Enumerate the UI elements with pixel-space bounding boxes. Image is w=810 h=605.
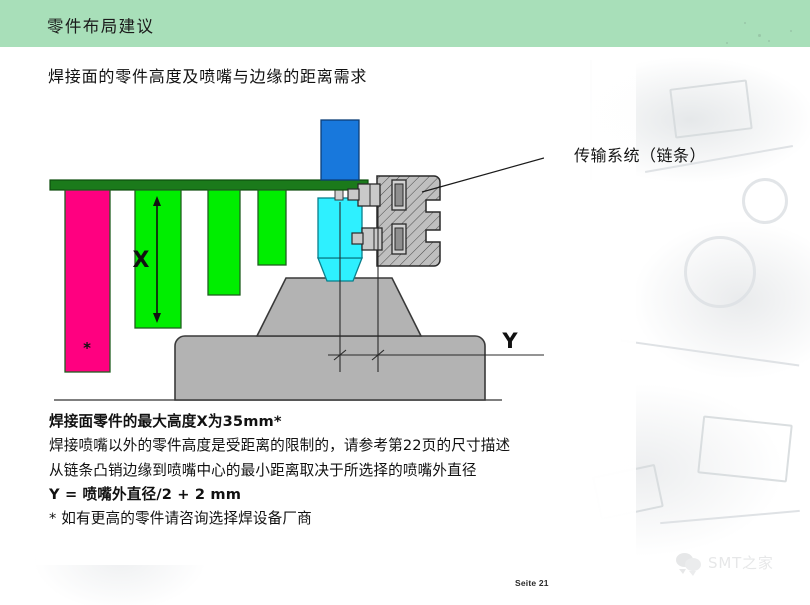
- dimension-x-label: X: [133, 248, 150, 273]
- green-component-2: [208, 190, 240, 295]
- green-component-3: [258, 190, 286, 265]
- blue-topside-component: [321, 120, 359, 180]
- body-line: 从链条凸销边缘到喷嘴中心的最小距离取决于所选择的喷嘴外直径: [49, 463, 510, 480]
- callout-label: 传输系统（链条）: [574, 142, 706, 166]
- machine-base: [175, 336, 485, 400]
- body-line: Y = 喷嘴外直径/2 + 2 mm: [49, 487, 510, 504]
- page-number-footer: Seite 21: [515, 578, 549, 588]
- bg-trace-line: [621, 339, 800, 366]
- bg-ring-shape: [684, 236, 756, 308]
- page-title: 零件布局建议: [47, 13, 154, 37]
- pcb-board: [50, 180, 368, 190]
- bg-chip-shape: [697, 415, 793, 482]
- smt-watermark: SMT之家: [676, 552, 774, 573]
- watermark-brand-label: SMT之家: [708, 552, 774, 573]
- bg-ring-shape: [742, 178, 788, 224]
- bg-chip-shape: [669, 79, 753, 138]
- body-line: * 如有更高的零件请咨询选择焊设备厂商: [49, 511, 510, 528]
- wechat-icon: [676, 553, 702, 572]
- section-subtitle: 焊接面的零件高度及喷嘴与边缘的距离需求: [48, 63, 367, 87]
- asterisk-mark: *: [83, 339, 91, 357]
- body-text-block: 焊接面零件的最大高度X为35mm* 焊接喷嘴以外的零件高度是受距离的限制的，请参…: [49, 414, 510, 535]
- dimension-y-label: Y: [501, 329, 518, 353]
- solder-pot: [257, 278, 421, 336]
- body-line: 焊接面零件的最大高度X为35mm*: [49, 414, 510, 431]
- body-line: 焊接喷嘴以外的零件高度是受距离的限制的，请参考第22页的尺寸描述: [49, 438, 510, 455]
- bg-trace-line: [660, 510, 800, 524]
- diagram-illustration: * X: [40, 110, 544, 408]
